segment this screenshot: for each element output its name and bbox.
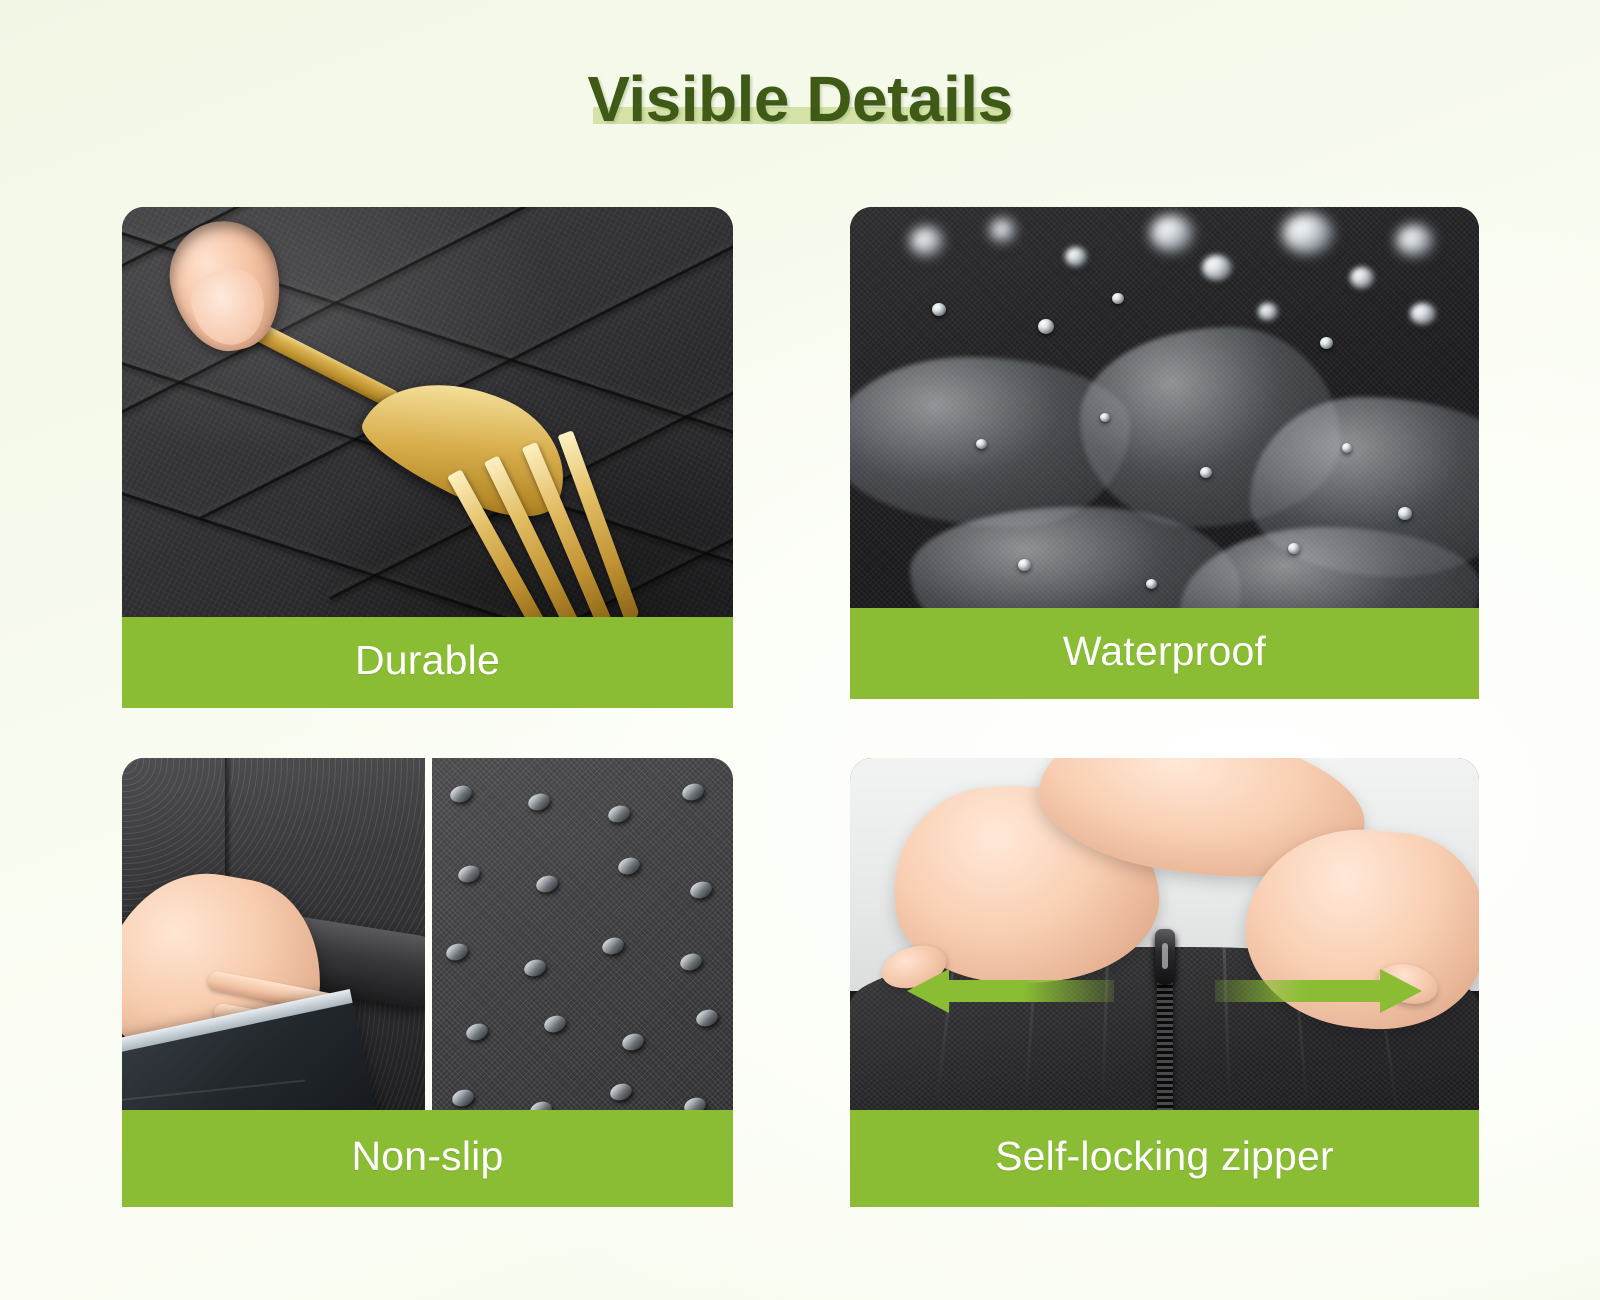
- feature-card-non-slip[interactable]: Non-slip: [122, 758, 733, 1207]
- infographic-page: Visible Details: [0, 0, 1600, 1300]
- feature-card-grid: Durable: [122, 207, 1479, 1207]
- card-label-self-locking-zipper: Self-locking zipper: [850, 1110, 1479, 1207]
- page-title-text: Visible Details: [587, 63, 1012, 135]
- arrow-left-icon: [907, 969, 1115, 1013]
- card-label-non-slip: Non-slip: [122, 1110, 733, 1207]
- page-title: Visible Details: [0, 66, 1600, 133]
- arrow-right-icon: [1215, 969, 1423, 1013]
- feature-card-self-locking-zipper[interactable]: Self-locking zipper: [850, 758, 1479, 1207]
- feature-card-durable[interactable]: Durable: [122, 207, 733, 708]
- card-label-waterproof: Waterproof: [850, 608, 1479, 699]
- zipper-pull-icon: [1155, 929, 1175, 985]
- feature-card-waterproof[interactable]: Waterproof: [850, 207, 1479, 699]
- card-label-durable: Durable: [122, 617, 733, 708]
- gold-fork-icon: [178, 237, 698, 627]
